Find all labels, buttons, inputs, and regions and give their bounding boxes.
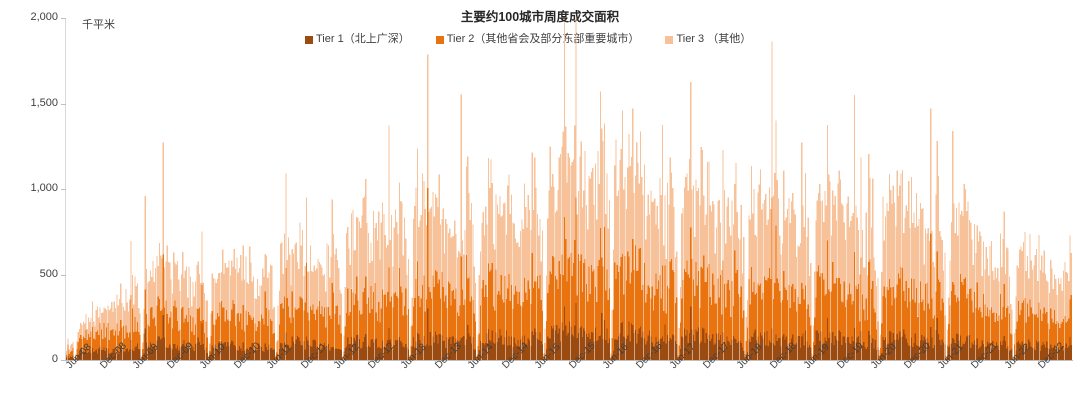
chart-plot-bars bbox=[66, 18, 1073, 360]
y-axis-label: 1,000 bbox=[8, 183, 58, 194]
y-axis-label: 500 bbox=[8, 269, 58, 280]
y-axis-label: 1,500 bbox=[8, 98, 58, 109]
y-axis-label: 0 bbox=[8, 354, 58, 365]
chart-container: 主要约100城市周度成交面积 Tier 1（北上广深） Tier 2（其他省会及… bbox=[0, 0, 1080, 412]
y-axis-label: 2,000 bbox=[8, 12, 58, 23]
